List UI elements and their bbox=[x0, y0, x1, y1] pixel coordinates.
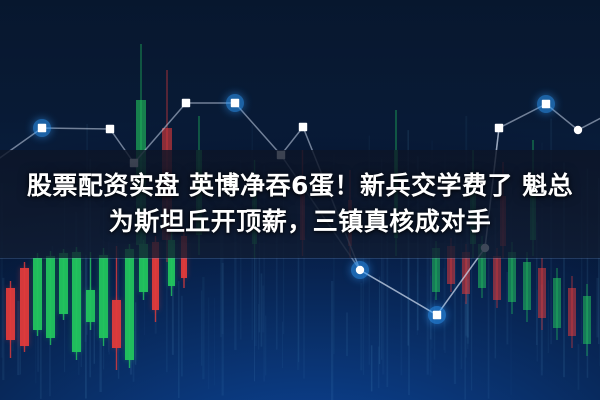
headline-overlay-band bbox=[0, 150, 600, 258]
thumbnail-image: 股票配资实盘 英博净吞6蛋！新兵交学费了 魁总 为斯坦丘开顶薪，三镇真核成对手 bbox=[0, 0, 600, 400]
